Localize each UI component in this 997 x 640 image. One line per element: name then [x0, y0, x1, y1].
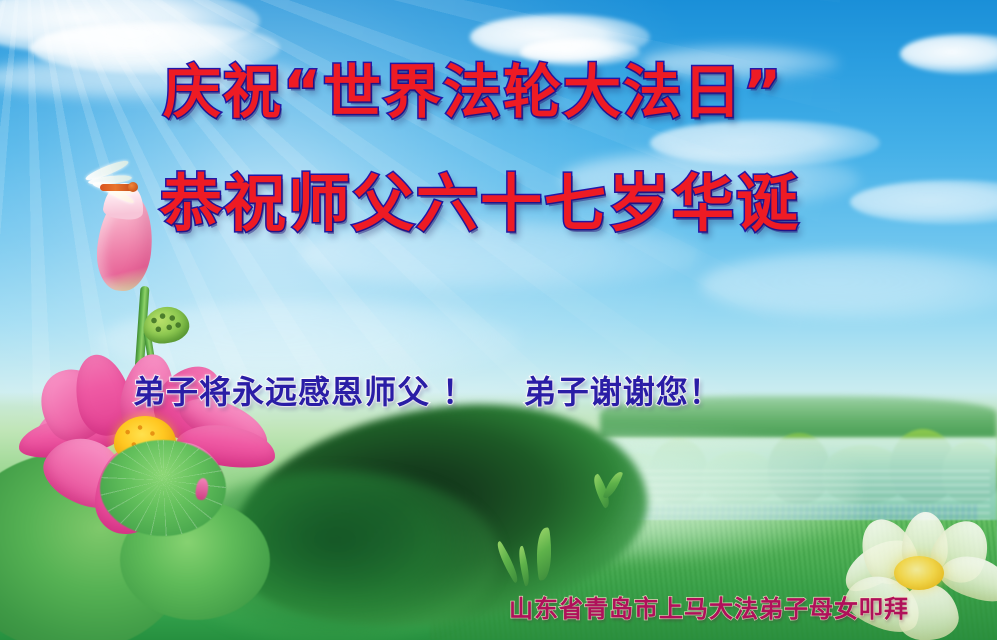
dragonfly-head	[128, 182, 138, 192]
dragonfly-icon	[82, 162, 160, 202]
white-lotus-center	[894, 556, 944, 590]
title-line-2: 恭祝师父六十七岁华诞	[160, 173, 800, 235]
signature-line: 山东省青岛市上马大法弟子母女叩拜	[509, 597, 909, 621]
greeting-card: 庆祝“世界法轮大法日” 恭祝师父六十七岁华诞 弟子将永远感恩师父 ！ 弟子谢谢您…	[0, 0, 997, 640]
gratitude-line: 弟子将永远感恩师父 ！ 弟子谢谢您！	[133, 376, 722, 408]
title-line-1: 庆祝“世界法轮大法日”	[163, 63, 783, 121]
